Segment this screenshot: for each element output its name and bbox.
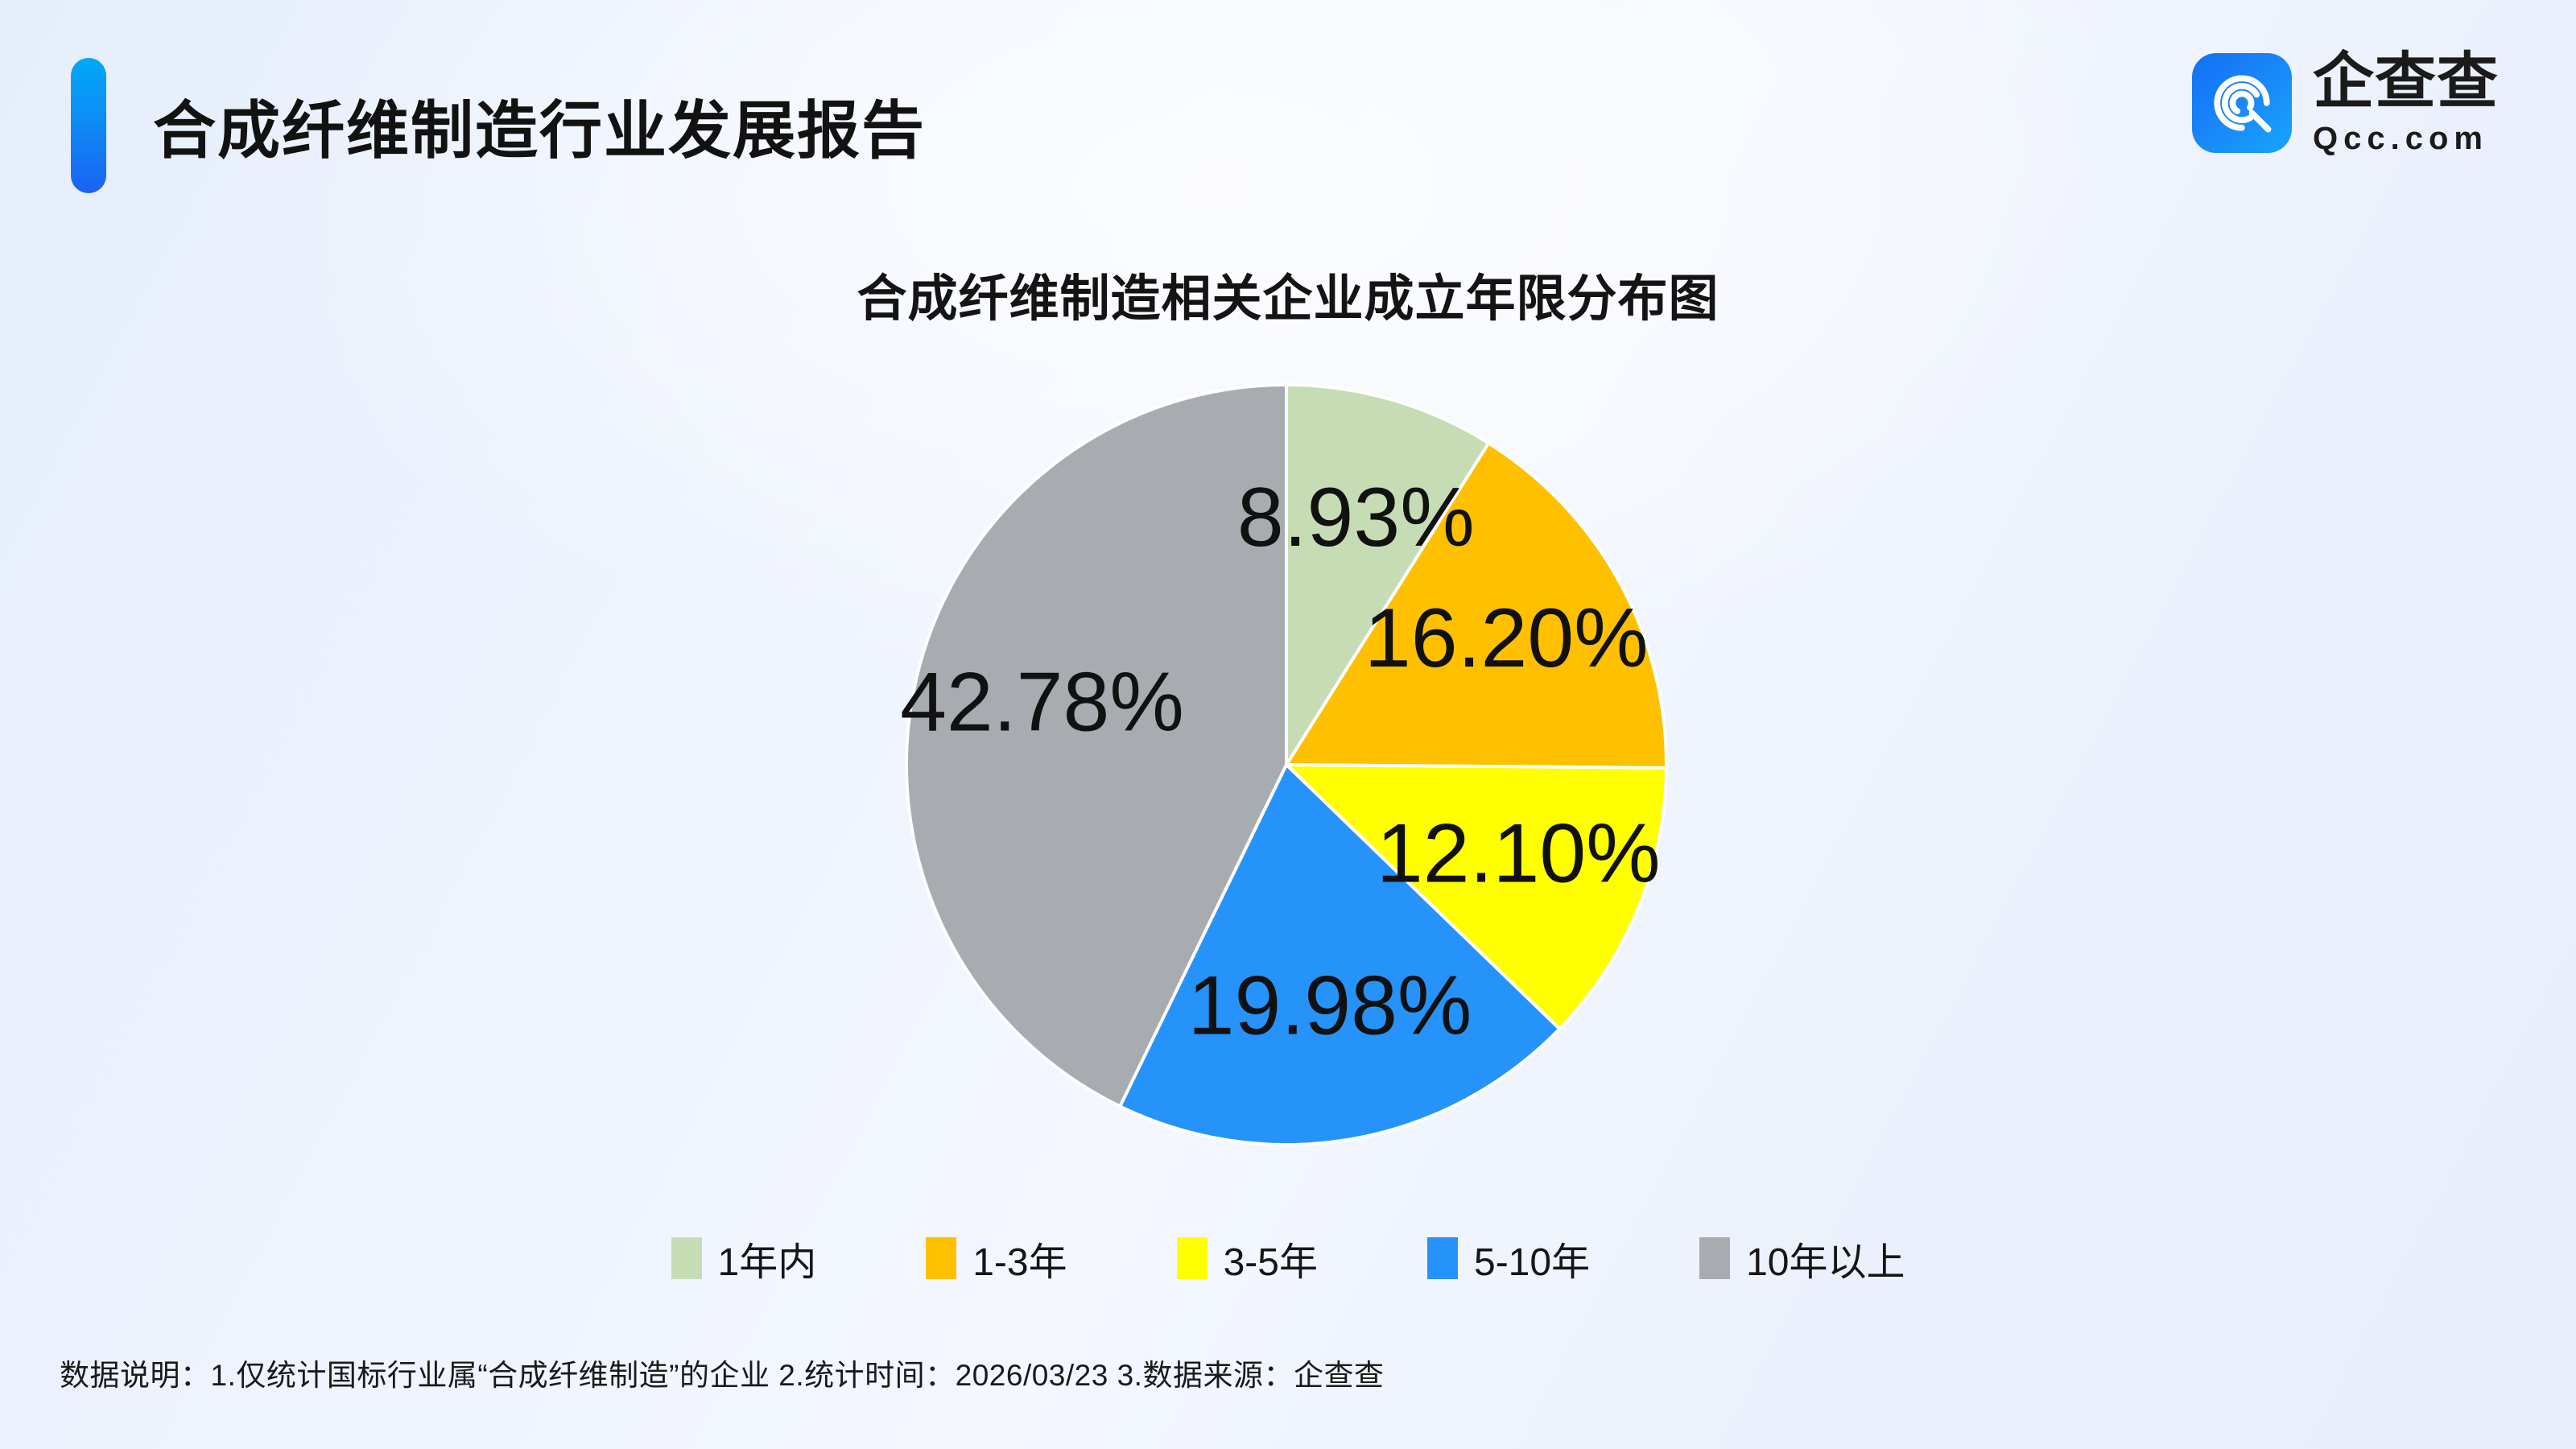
legend-color-swatch <box>1427 1237 1458 1279</box>
title-accent-bar <box>71 58 106 193</box>
brand-logo: 企查查 Qcc.com <box>2192 52 2499 155</box>
legend-color-swatch <box>926 1237 956 1279</box>
legend-item[interactable]: 1-3年 <box>926 1230 1067 1286</box>
pie-slice-label: 8.93% <box>1237 471 1475 564</box>
pie-slice-label: 12.10% <box>1377 807 1661 900</box>
data-note: 数据说明：1.仅统计国标行业属“合成纤维制造”的企业 2.统计时间：2026/0… <box>60 1351 1384 1394</box>
legend-item[interactable]: 3-5年 <box>1177 1230 1318 1286</box>
legend-color-swatch <box>1177 1237 1207 1279</box>
legend-item[interactable]: 1年内 <box>671 1230 817 1286</box>
legend-item[interactable]: 10年以上 <box>1699 1230 1905 1286</box>
page-title: 合成纤维制造行业发展报告 <box>153 58 926 193</box>
legend-item-label: 1年内 <box>718 1230 817 1286</box>
brand-name-cn: 企查查 <box>2313 52 2499 113</box>
legend-item-label: 3-5年 <box>1224 1230 1318 1286</box>
chart-title: 合成纤维制造相关企业成立年限分布图 <box>0 258 2576 330</box>
legend-item-label: 5-10年 <box>1474 1230 1590 1286</box>
pie-slice-label: 42.78% <box>900 655 1184 749</box>
legend-color-swatch <box>671 1237 702 1279</box>
report-page: 合成纤维制造行业发展报告 企查查 Qcc.com 合成纤维制造相关企业成立年限分… <box>0 0 2576 1449</box>
pie-slice-label: 19.98% <box>1188 959 1472 1052</box>
pie-chart: 8.93%16.20%12.10%19.98%42.78% <box>900 378 1673 1151</box>
qcc-spiral-q-icon <box>2192 53 2292 153</box>
legend-item[interactable]: 5-10年 <box>1427 1230 1590 1286</box>
legend-item-label: 1-3年 <box>972 1230 1067 1286</box>
legend-item-label: 10年以上 <box>1746 1230 1905 1286</box>
pie-chart-svg: 8.93%16.20%12.10%19.98%42.78% <box>900 378 1673 1151</box>
chart-legend: 1年内1-3年3-5年5-10年10年以上 <box>0 1230 2576 1286</box>
pie-slice-label: 16.20% <box>1364 592 1649 685</box>
legend-color-swatch <box>1699 1237 1730 1279</box>
brand-wordmark: 企查查 Qcc.com <box>2313 52 2499 155</box>
brand-name-en: Qcc.com <box>2313 122 2499 155</box>
